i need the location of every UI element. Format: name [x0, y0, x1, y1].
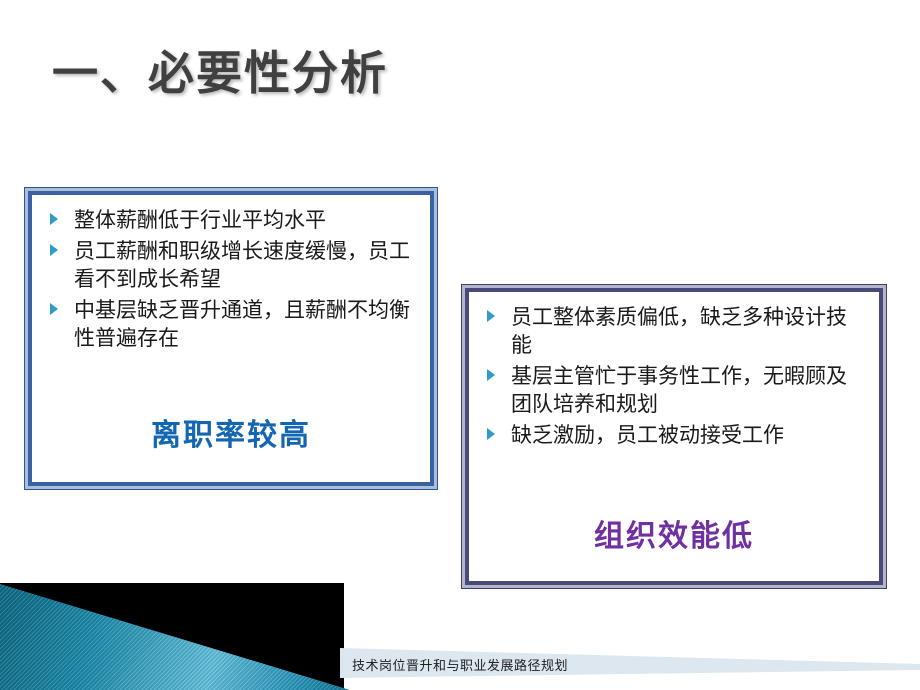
triangle-bullet-icon — [50, 213, 58, 225]
triangle-bullet-icon — [50, 303, 58, 315]
right-content-box: 员工整体素质偏低，缺乏多种设计技能 基层主管忙于事务性工作，无暇顾及团队培养和规… — [461, 284, 887, 589]
triangle-bullet-icon — [50, 244, 58, 256]
list-item: 员工薪酬和职级增长速度缓慢，员工看不到成长希望 — [42, 238, 416, 294]
list-item-label: 基层主管忙于事务性工作，无暇顾及团队培养和规划 — [511, 364, 847, 416]
left-content-box: 整体薪酬低于行业平均水平 员工薪酬和职级增长速度缓慢，员工看不到成长希望 中基层… — [24, 187, 438, 490]
left-content-box-inner: 整体薪酬低于行业平均水平 员工薪酬和职级增长速度缓慢，员工看不到成长希望 中基层… — [28, 191, 434, 486]
triangle-bullet-icon — [487, 428, 495, 440]
list-item-label: 员工整体素质偏低，缺乏多种设计技能 — [511, 305, 847, 357]
list-item: 员工整体素质偏低，缺乏多种设计技能 — [479, 304, 865, 360]
right-conclusion-text: 组织效能低 — [469, 511, 879, 555]
list-item: 整体薪酬低于行业平均水平 — [42, 207, 416, 235]
list-item-label: 中基层缺乏晋升通道，且薪酬不均衡性普遍存在 — [74, 298, 410, 350]
right-content-box-inner: 员工整体素质偏低，缺乏多种设计技能 基层主管忙于事务性工作，无暇顾及团队培养和规… — [465, 288, 883, 585]
list-item-label: 整体薪酬低于行业平均水平 — [74, 208, 326, 232]
triangle-bullet-icon — [487, 369, 495, 381]
left-bullet-list: 整体薪酬低于行业平均水平 员工薪酬和职级增长速度缓慢，员工看不到成长希望 中基层… — [32, 195, 430, 353]
list-item-label: 缺乏激励，员工被动接受工作 — [511, 423, 784, 447]
list-item: 缺乏激励，员工被动接受工作 — [479, 422, 865, 450]
list-item: 基层主管忙于事务性工作，无暇顾及团队培养和规划 — [479, 363, 865, 419]
left-conclusion-text: 离职率较高 — [32, 410, 430, 454]
footer-label: 技术岗位晋升和与职业发展路径规划 — [0, 655, 920, 674]
triangle-bullet-icon — [487, 310, 495, 322]
page-title: 一、必要性分析 — [52, 48, 388, 99]
list-item: 中基层缺乏晋升通道，且薪酬不均衡性普遍存在 — [42, 297, 416, 353]
list-item-label: 员工薪酬和职级增长速度缓慢，员工看不到成长希望 — [74, 239, 410, 291]
slide-canvas: 一、必要性分析 整体薪酬低于行业平均水平 员工薪酬和职级增长速度缓慢，员工看不到… — [0, 0, 920, 690]
right-bullet-list: 员工整体素质偏低，缺乏多种设计技能 基层主管忙于事务性工作，无暇顾及团队培养和规… — [469, 292, 879, 450]
